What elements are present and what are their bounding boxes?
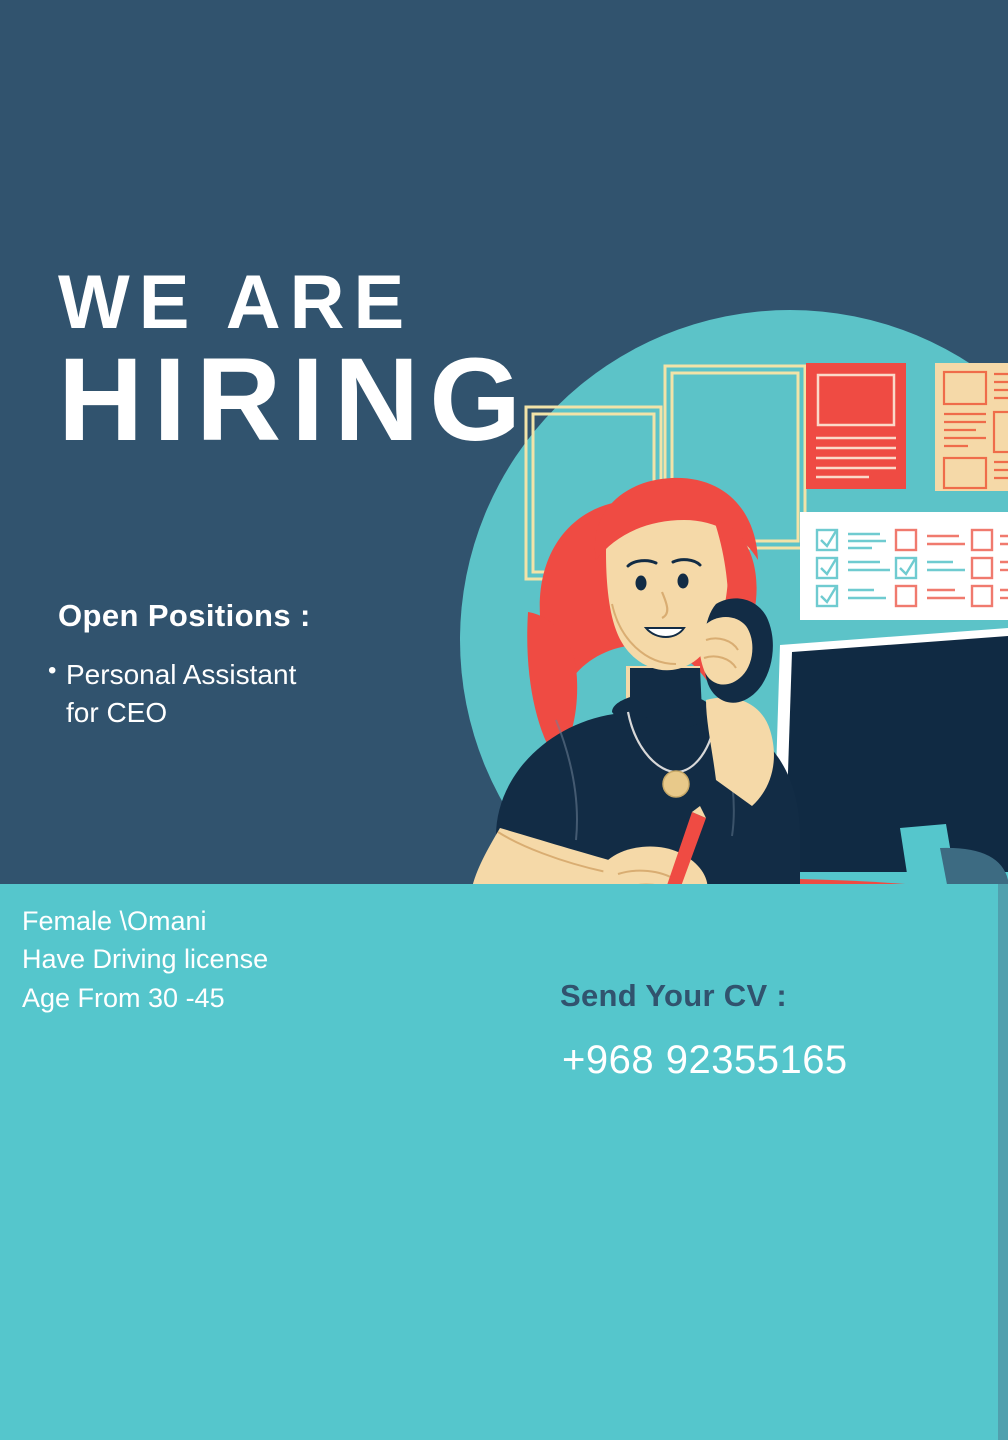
hiring-poster: WE ARE HIRING Open Positions : Personal … bbox=[0, 0, 1008, 1440]
open-positions-list: Personal Assistant for CEO bbox=[48, 656, 296, 732]
cream-document bbox=[935, 363, 1008, 491]
contact-phone-number[interactable]: +968 92355165 bbox=[562, 1038, 848, 1083]
requirements-text: Female \Omani Have Driving license Age F… bbox=[22, 902, 268, 1017]
red-poster bbox=[806, 363, 906, 489]
headline-line-1: WE ARE bbox=[58, 268, 531, 338]
send-cv-heading: Send Your CV : bbox=[560, 978, 787, 1014]
checklist-panel bbox=[800, 512, 1008, 620]
page-title: WE ARE HIRING bbox=[58, 268, 531, 454]
right-edge-strip bbox=[998, 884, 1008, 1440]
headline-line-2: HIRING bbox=[58, 346, 531, 455]
list-item: Personal Assistant for CEO bbox=[48, 656, 296, 732]
open-positions-heading: Open Positions : bbox=[58, 598, 311, 634]
office-illustration bbox=[0, 0, 1008, 940]
